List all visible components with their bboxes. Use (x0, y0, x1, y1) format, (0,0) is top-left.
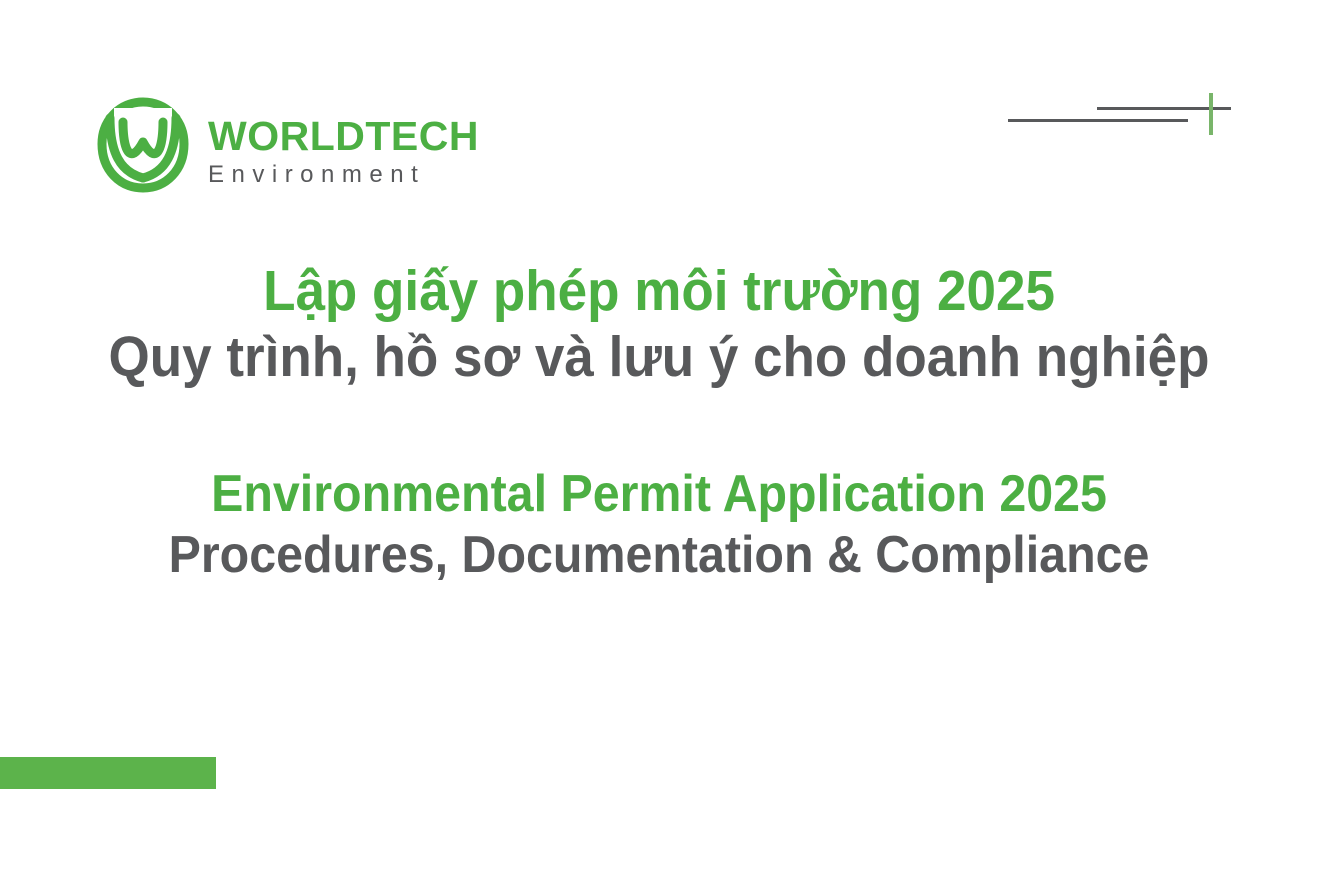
decoration-line-lower (1008, 119, 1188, 122)
brand-text: WORLDTECH Environment (208, 112, 479, 190)
headline-block: Lập giấy phép môi trường 2025 Quy trình,… (0, 258, 1318, 585)
headline-spacer (0, 390, 1318, 464)
bottom-accent-bar (0, 757, 216, 789)
headline-english-primary: Environmental Permit Application 2025 (46, 464, 1272, 524)
worldtech-w-circle-logo-icon (92, 92, 194, 210)
headline-english-secondary: Procedures, Documentation & Compliance (46, 525, 1272, 585)
decoration-vertical-accent (1209, 93, 1213, 135)
brand-subtitle: Environment (208, 160, 479, 190)
headline-vietnamese-primary: Lập giấy phép môi trường 2025 (46, 258, 1272, 324)
headline-vietnamese-secondary: Quy trình, hồ sơ và lưu ý cho doanh nghi… (46, 324, 1272, 390)
brand-logo: WORLDTECH Environment (92, 92, 479, 210)
brand-name: WORLDTECH (208, 116, 479, 158)
top-right-decoration (1008, 90, 1238, 140)
